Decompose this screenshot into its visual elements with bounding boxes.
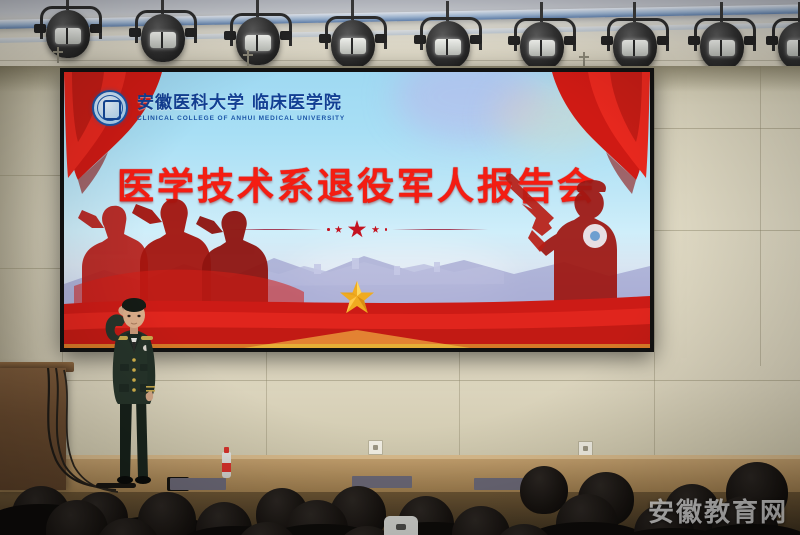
gold-star-icon [339, 280, 375, 314]
ceiling [0, 0, 800, 72]
photograph-scene: 安徽医科大学 临床医学院 CLINICAL COLLEGE OF ANHUI M… [0, 0, 800, 535]
rifle-soldier-silhouette [502, 170, 632, 302]
laptop [170, 478, 226, 490]
stage-par-light [323, 14, 383, 74]
wall-left-shadow [0, 66, 62, 366]
stage-par-light [38, 4, 98, 64]
slide-header: 安徽医科大学 临床医学院 CLINICAL COLLEGE OF ANHUI M… [92, 90, 345, 126]
ceiling-hook [247, 50, 249, 66]
site-watermark: 安徽教育网 [648, 492, 788, 529]
divider-line-right [392, 229, 488, 231]
laptop [474, 478, 526, 490]
seat-detail [396, 524, 406, 530]
stage-par-light [228, 11, 288, 71]
stage-par-light [133, 8, 193, 68]
divider-star-small [372, 226, 380, 234]
ceiling-hook [57, 47, 59, 63]
university-seal-icon [92, 90, 128, 126]
divider-dot [327, 228, 330, 231]
audience-head [452, 506, 510, 535]
water-bottle [222, 452, 231, 478]
institution-name-en: CLINICAL COLLEGE OF ANHUI MEDICAL UNIVER… [137, 115, 345, 122]
divider-star-large [348, 220, 367, 239]
divider-star-small [335, 226, 343, 234]
divider-dot [385, 228, 388, 231]
institution-name-cn: 安徽医科大学 临床医学院 [137, 94, 345, 113]
